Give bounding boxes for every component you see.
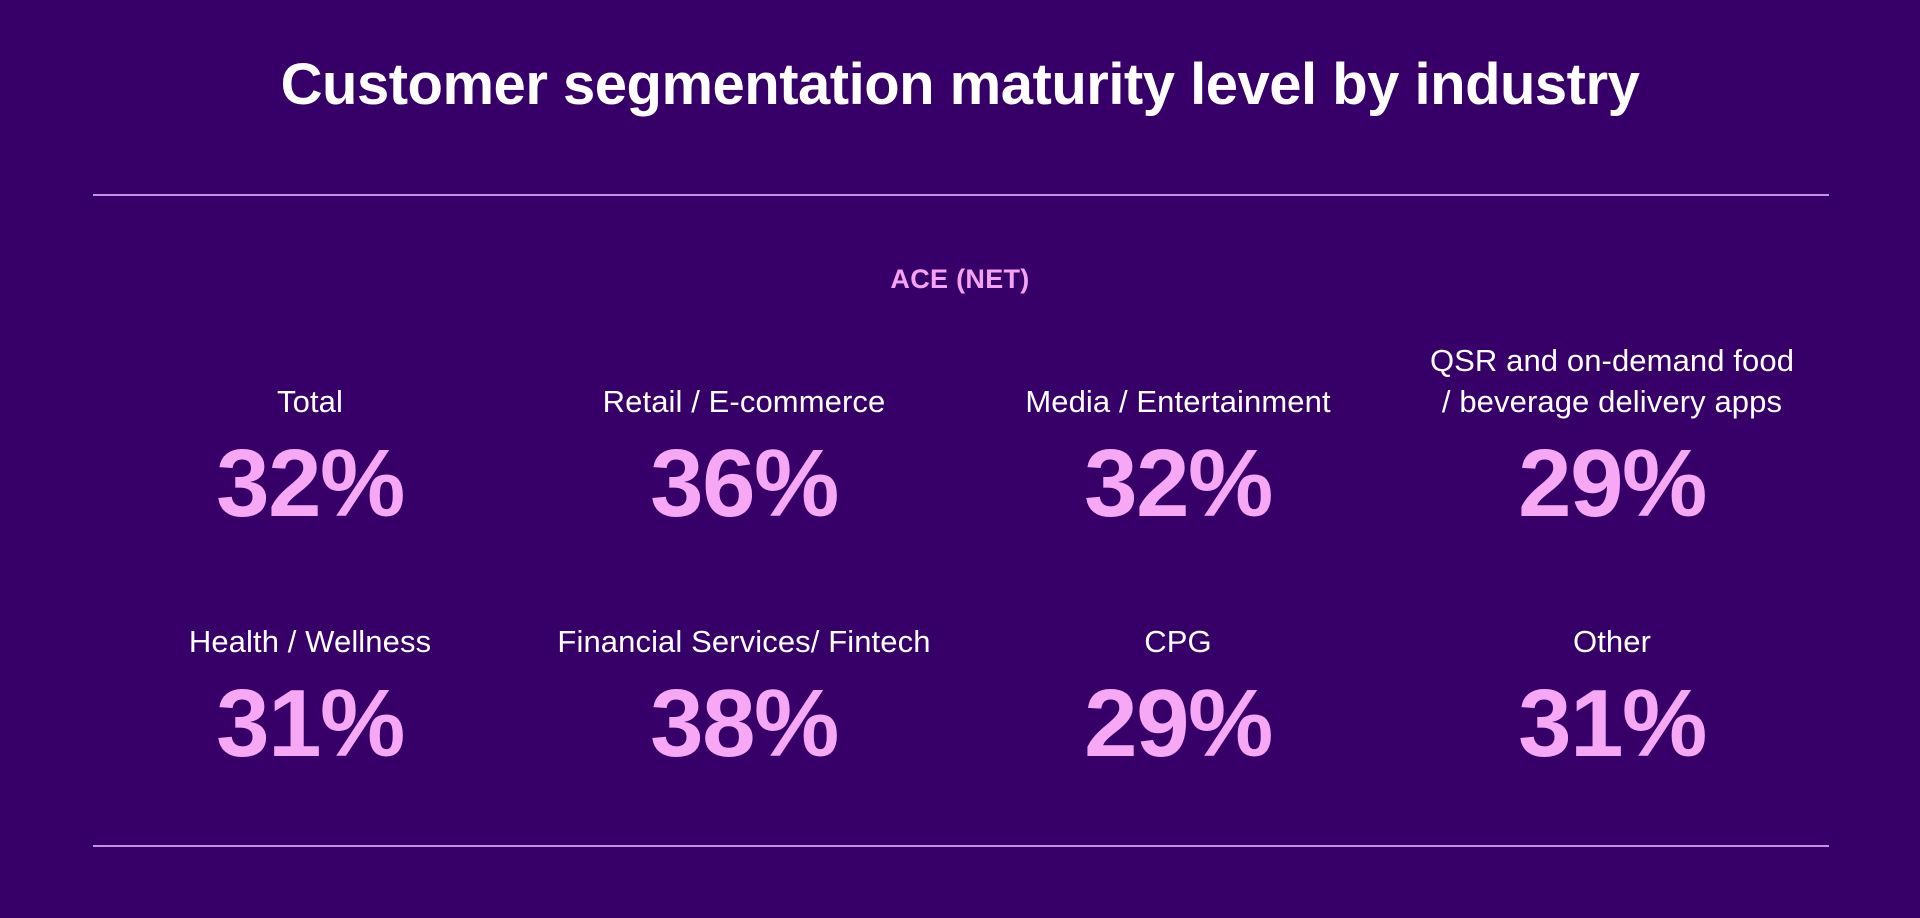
stat-cell-other: Other 31%: [1395, 570, 1829, 805]
page-title: Customer segmentation maturity level by …: [0, 52, 1920, 119]
stat-label-wrap: Financial Services/ Fintech: [527, 570, 961, 662]
stat-label-wrap: Total: [93, 330, 527, 422]
stat-label: Total: [277, 382, 343, 422]
stat-cell-media-entertainment: Media / Entertainment 32%: [961, 330, 1395, 570]
stat-value: 29%: [1084, 676, 1272, 772]
stat-label: Health / Wellness: [189, 622, 431, 662]
section-label: ACE (NET): [0, 264, 1920, 295]
stat-label: Retail / E-commerce: [603, 382, 886, 422]
stat-label-wrap: CPG: [961, 570, 1395, 662]
stat-label-wrap: Media / Entertainment: [961, 330, 1395, 422]
stat-label-wrap: Other: [1395, 570, 1829, 662]
stat-label-wrap: Health / Wellness: [93, 570, 527, 662]
stat-row: Total 32% Retail / E-commerce 36% Media …: [93, 330, 1829, 570]
stat-label: QSR and on-demand food / beverage delive…: [1430, 341, 1794, 422]
stat-label: Media / Entertainment: [1025, 382, 1330, 422]
stat-label-wrap: QSR and on-demand food / beverage delive…: [1395, 330, 1829, 422]
stat-cell-qsr-on-demand-food: QSR and on-demand food / beverage delive…: [1395, 330, 1829, 570]
stat-value: 32%: [216, 436, 404, 532]
divider-bottom: [93, 845, 1829, 847]
stat-value: 29%: [1518, 436, 1706, 532]
stat-value: 36%: [650, 436, 838, 532]
stat-label: Financial Services/ Fintech: [557, 622, 930, 662]
stat-label: Other: [1573, 622, 1651, 662]
stat-cell-health-wellness: Health / Wellness 31%: [93, 570, 527, 805]
stat-cell-financial-services-fintech: Financial Services/ Fintech 38%: [527, 570, 961, 805]
stat-label: CPG: [1144, 622, 1211, 662]
stat-row: Health / Wellness 31% Financial Services…: [93, 570, 1829, 805]
stat-label-wrap: Retail / E-commerce: [527, 330, 961, 422]
stat-value: 31%: [216, 676, 404, 772]
stat-value: 32%: [1084, 436, 1272, 532]
stat-grid: Total 32% Retail / E-commerce 36% Media …: [93, 330, 1829, 805]
stat-cell-retail-ecommerce: Retail / E-commerce 36%: [527, 330, 961, 570]
stat-value: 31%: [1518, 676, 1706, 772]
stat-cell-total: Total 32%: [93, 330, 527, 570]
infographic-slide: Customer segmentation maturity level by …: [0, 0, 1920, 918]
stat-value: 38%: [650, 676, 838, 772]
stat-cell-cpg: CPG 29%: [961, 570, 1395, 805]
divider-top: [93, 194, 1829, 196]
